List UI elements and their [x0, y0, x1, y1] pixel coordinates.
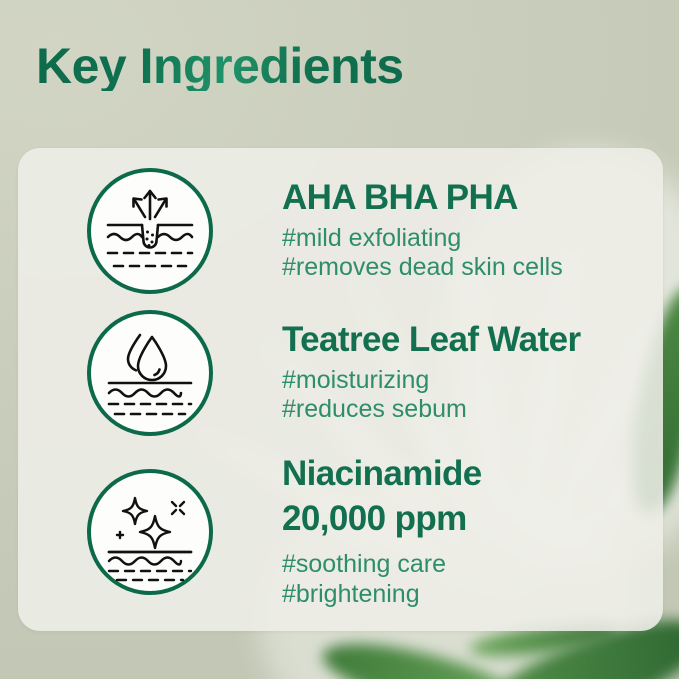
- ingredient-name: AHA BHA PHA: [282, 179, 663, 216]
- ingredient-tags: #moisturizing #reduces sebum: [282, 366, 663, 425]
- ingredient-row: Teatree Leaf Water #moisturizing #reduce…: [18, 300, 663, 446]
- ingredient-name-line2: 20,000 ppm: [282, 500, 663, 538]
- ingredient-row: Niacinamide 20,000 ppm #soothing care #b…: [18, 444, 663, 620]
- ingredient-text: AHA BHA PHA #mild exfoliating #removes d…: [282, 179, 663, 282]
- page-title: Key Ingredients: [36, 41, 404, 91]
- sparkles-brightening-icon: [87, 469, 213, 595]
- ingredient-text: Teatree Leaf Water #moisturizing #reduce…: [282, 321, 663, 424]
- ingredient-tag: #brightening: [282, 580, 663, 610]
- ingredient-tag: #moisturizing: [282, 366, 663, 396]
- icon-container: [18, 310, 282, 436]
- icon-container: [18, 168, 282, 294]
- ingredient-tag: #mild exfoliating: [282, 224, 663, 254]
- ingredient-name: Niacinamide: [282, 455, 663, 493]
- icon-container: [18, 469, 282, 595]
- pore-exfoliation-icon: [87, 168, 213, 294]
- infographic-canvas: Key Ingredients: [0, 0, 679, 679]
- ingredient-tag: #soothing care: [282, 550, 663, 580]
- ingredients-card: AHA BHA PHA #mild exfoliating #removes d…: [18, 148, 663, 631]
- ingredient-tag: #removes dead skin cells: [282, 253, 663, 283]
- ingredient-text: Niacinamide 20,000 ppm #soothing care #b…: [282, 455, 663, 610]
- ingredient-tags: #mild exfoliating #removes dead skin cel…: [282, 224, 663, 283]
- ingredient-name: Teatree Leaf Water: [282, 321, 663, 358]
- ingredient-tag: #reduces sebum: [282, 395, 663, 425]
- water-droplets-icon: [87, 310, 213, 436]
- ingredient-tags: #soothing care #brightening: [282, 550, 663, 609]
- ingredient-row: AHA BHA PHA #mild exfoliating #removes d…: [18, 158, 663, 304]
